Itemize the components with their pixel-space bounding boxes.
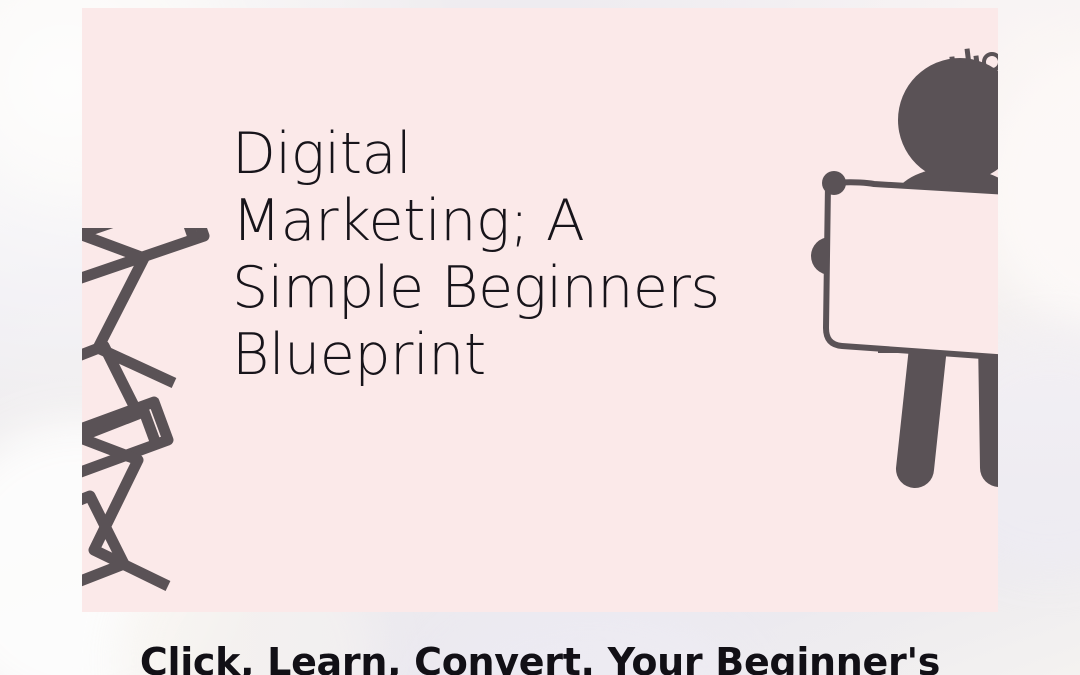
pencil-upper-icon: [82, 228, 204, 290]
paper-corner-icon: [82, 346, 138, 456]
bar-chart-icon: [939, 46, 996, 95]
person-body: [878, 168, 998, 353]
ruler-zigzag-icon: [82, 228, 174, 383]
plus-icon: [922, 117, 947, 142]
pencil-lower-icon: [82, 402, 168, 492]
subheadline: Click, Learn, Convert. Your Beginner's: [0, 640, 1080, 675]
screenshot-canvas: Digital Marketing; A Simple Beginners Bl…: [0, 0, 1080, 675]
page-title: Digital Marketing; A Simple Beginners Bl…: [232, 121, 852, 389]
line-graph-icon: [984, 33, 998, 95]
content-card: Digital Marketing; A Simple Beginners Bl…: [82, 8, 998, 612]
paper-corner-lower-icon: [82, 496, 124, 596]
person-leg-left: [896, 338, 948, 488]
ruler-zigzag-lower-icon: [82, 418, 168, 586]
multiply-icon: [941, 114, 972, 145]
person-leg-right: [978, 338, 998, 487]
person-head: [898, 58, 998, 182]
